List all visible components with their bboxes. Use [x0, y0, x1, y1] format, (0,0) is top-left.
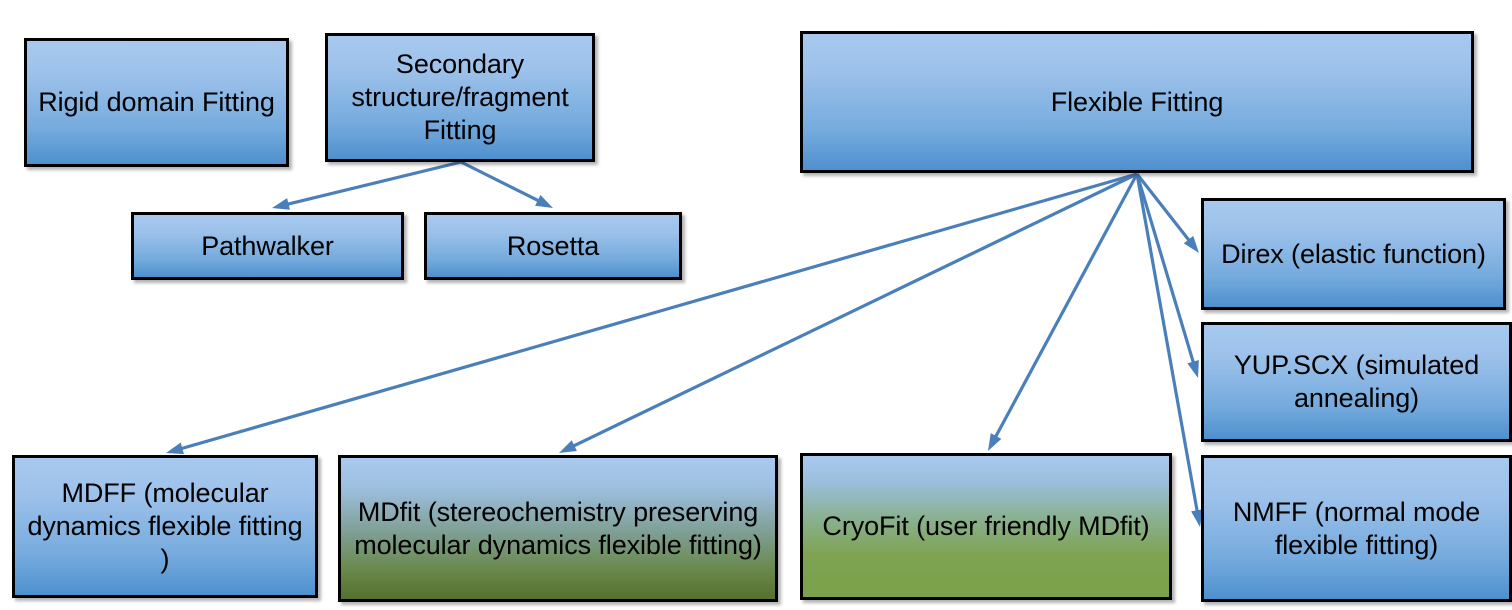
diagram-canvas: Rigid domain Fitting Secondary structure… — [0, 0, 1512, 610]
connector-arrowhead — [559, 440, 577, 453]
node-cryofit[interactable]: CryoFit (user friendly MDfit) — [800, 453, 1172, 600]
node-label: CryoFit (user friendly MDfit) — [813, 510, 1159, 543]
node-nmff[interactable]: NMFF (normal mode flexible fitting) — [1201, 455, 1512, 602]
connector-arrowhead — [166, 443, 184, 455]
connector-arrowhead — [535, 195, 553, 208]
node-label: Pathwalker — [144, 230, 391, 263]
node-label: Direx (elastic function) — [1214, 238, 1493, 271]
node-label: NMFF (normal mode flexible fitting) — [1214, 496, 1499, 562]
node-label: YUP.SCX (simulated annealing) — [1214, 349, 1499, 415]
connector-arrowhead — [272, 198, 290, 210]
node-label: MDfit (stereochemistry preserving molecu… — [351, 496, 765, 562]
connector-line — [1137, 174, 1194, 365]
connector-line — [995, 174, 1137, 439]
connector-line — [1137, 174, 1190, 242]
node-label: Rigid domain Fitting — [37, 86, 276, 119]
connector-flexible-to-yupscx — [1137, 174, 1199, 378]
connector-flexible-to-cryofit — [988, 174, 1137, 451]
node-mdff[interactable]: MDFF (molecular dynamics flexible fittin… — [12, 455, 318, 598]
connector-flexible-to-direx — [1137, 174, 1199, 253]
node-rosetta[interactable]: Rosetta — [424, 212, 682, 280]
node-flexible-fitting[interactable]: Flexible Fitting — [800, 31, 1474, 173]
connector-arrowhead — [988, 433, 1001, 451]
connector-arrowhead — [1184, 236, 1199, 253]
node-label: MDFF (molecular dynamics flexible fittin… — [25, 477, 305, 576]
connector-line — [461, 162, 540, 202]
connector-secondary-to-pathwalker — [272, 162, 461, 210]
connector-secondary-to-rosetta — [461, 162, 553, 208]
connector-arrowhead — [1187, 360, 1198, 378]
node-pathwalker[interactable]: Pathwalker — [131, 212, 404, 280]
node-secondary-structure-fragment-fitting[interactable]: Secondary structure/fragment Fitting — [325, 33, 595, 162]
node-yup-scx[interactable]: YUP.SCX (simulated annealing) — [1201, 322, 1512, 442]
node-label: Flexible Fitting — [813, 86, 1461, 119]
node-direx[interactable]: Direx (elastic function) — [1201, 198, 1506, 310]
node-label: Secondary structure/fragment Fitting — [338, 48, 582, 147]
node-rigid-domain-fitting[interactable]: Rigid domain Fitting — [24, 38, 289, 167]
connector-line — [286, 162, 461, 205]
node-mdfit[interactable]: MDfit (stereochemistry preserving molecu… — [338, 455, 778, 602]
node-label: Rosetta — [437, 230, 669, 263]
